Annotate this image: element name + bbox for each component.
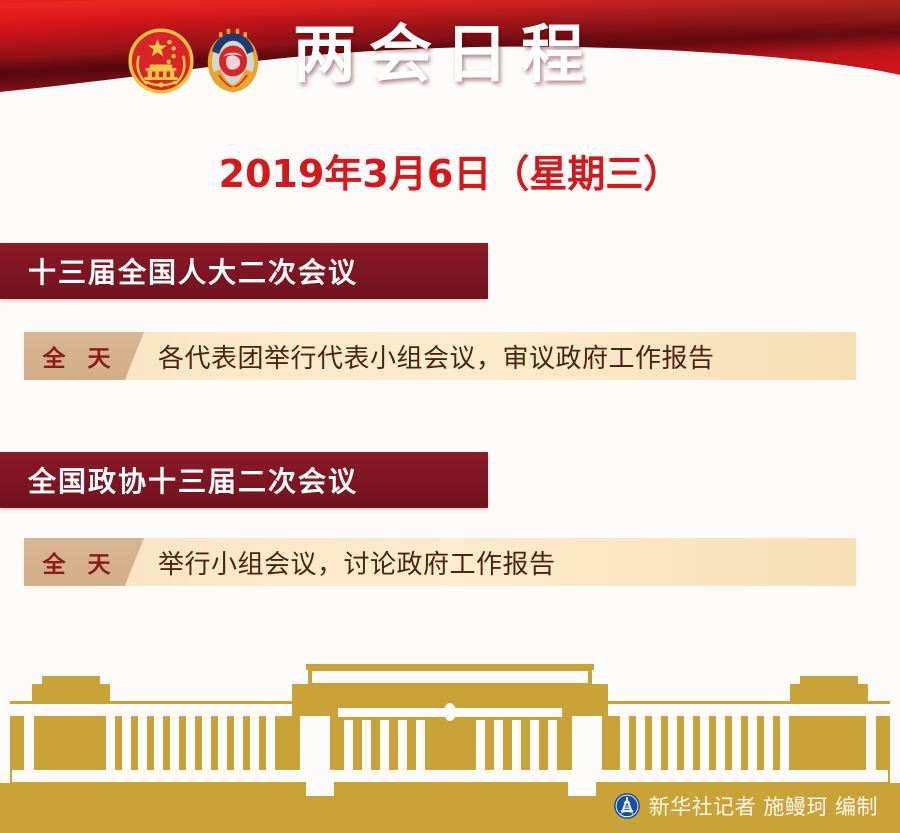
agenda-time-tag: 全 天	[24, 332, 144, 380]
xinhua-logo-icon	[613, 792, 641, 820]
agenda-description: 各代表团举行代表小组会议，审议政府工作报告	[144, 332, 856, 380]
agenda-time-tag: 全 天	[24, 538, 144, 586]
section-header-cppcc: 全国政协十三届二次会议	[0, 452, 488, 508]
date-heading: 2019年3月6日（星期三）	[0, 148, 900, 200]
section-header-npc-label: 十三届全国人大二次会议	[0, 251, 358, 291]
poster-root: 两会日程 2019年3月6日（星期三） 十三届全国人大二次会议 全 天 各代表团…	[0, 0, 900, 833]
agenda-time-label: 全 天	[38, 339, 129, 373]
section-header-cppcc-label: 全国政协十三届二次会议	[0, 460, 358, 500]
agenda-row-npc-allday: 全 天 各代表团举行代表小组会议，审议政府工作报告	[24, 332, 856, 380]
credit-text: 新华社记者 施鳗珂 编制	[649, 791, 878, 821]
section-header-npc: 十三届全国人大二次会议	[0, 243, 488, 299]
agenda-time-label: 全 天	[38, 545, 129, 579]
banner-title: 两会日程	[293, 16, 597, 94]
header-banner: 两会日程	[0, 0, 900, 130]
cppcc-emblem-icon	[198, 26, 268, 96]
national-emblem-icon	[126, 26, 196, 96]
agenda-row-cppcc-allday: 全 天 举行小组会议，讨论政府工作报告	[24, 538, 856, 586]
emblem-group	[126, 22, 286, 102]
credit-block: 新华社记者 施鳗珂 编制	[613, 791, 878, 821]
agenda-description: 举行小组会议，讨论政府工作报告	[144, 538, 856, 586]
